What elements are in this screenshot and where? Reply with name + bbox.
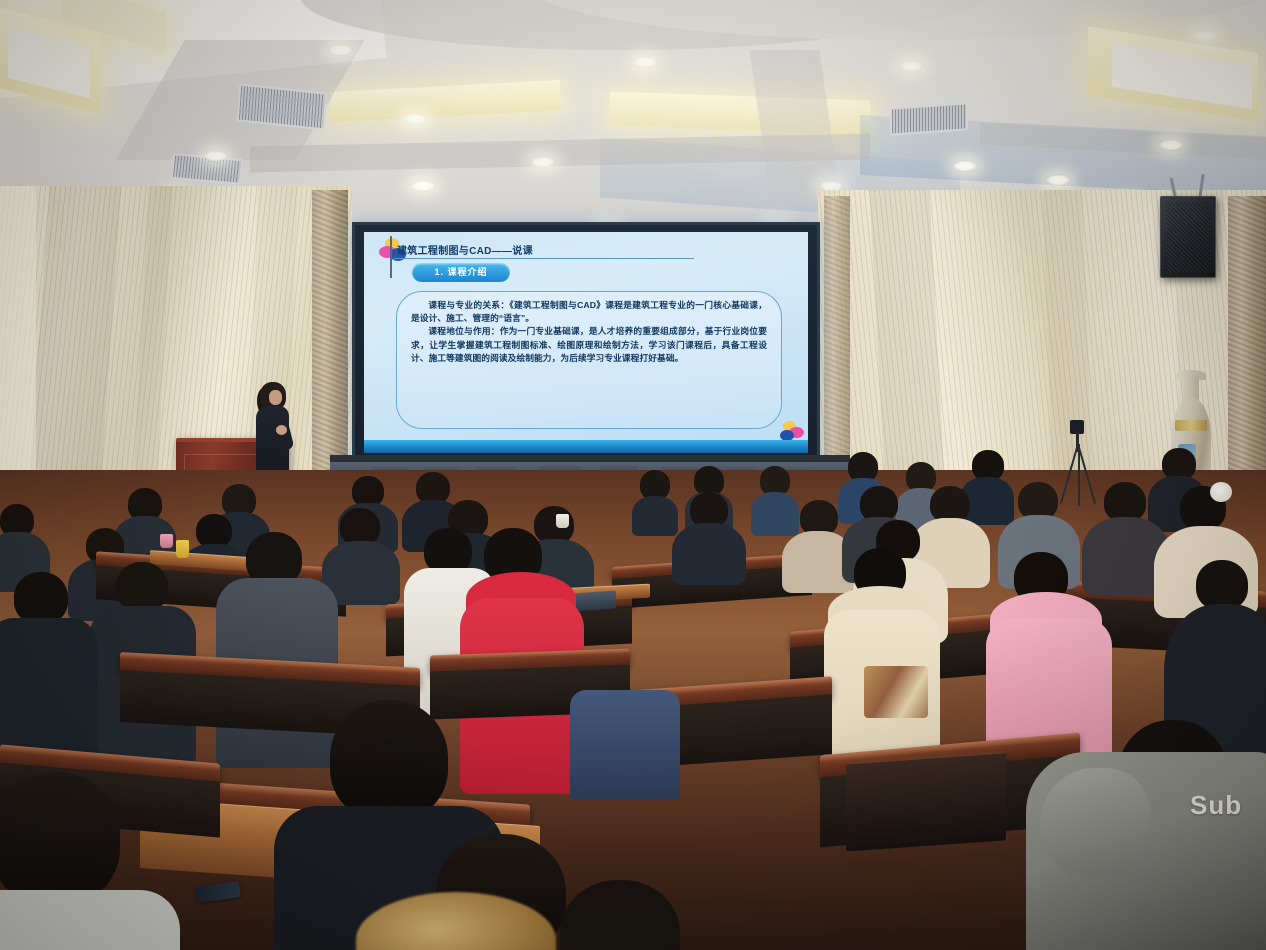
torso	[632, 496, 678, 536]
marble-pillar-right	[1228, 196, 1266, 496]
head	[1196, 560, 1248, 610]
vase-gold-band	[1175, 420, 1207, 431]
downlight	[1158, 139, 1184, 151]
slide-decoration-stem	[390, 236, 392, 278]
torso	[751, 492, 799, 536]
downlight	[203, 150, 229, 162]
downlight	[632, 56, 658, 68]
slide-callout-box: 课程与专业的关系：《建筑工程制图与CAD》课程是建筑工程专业的一门核心基础课，是…	[396, 291, 782, 429]
paper-cup	[176, 540, 189, 558]
audience-person-jeans	[570, 690, 680, 800]
projection-screen: 建筑工程制图与CAD——说课 1. 课程介绍 课程与专业的关系：《建筑工程制图与…	[352, 222, 820, 470]
downlight	[410, 180, 436, 192]
slide-title: 建筑工程制图与CAD——说课	[397, 242, 533, 257]
pillar-texture	[312, 190, 348, 480]
marble-pillar-left	[312, 190, 348, 480]
downlight	[1192, 30, 1218, 42]
slide-body-text: 课程与专业的关系：《建筑工程制图与CAD》课程是建筑工程专业的一门核心基础课，是…	[411, 299, 767, 365]
head	[116, 562, 168, 612]
head	[330, 700, 448, 820]
jacket-brand-text: Sub	[1190, 790, 1242, 821]
wall-shadow-band	[26, 186, 121, 516]
downlight	[898, 60, 924, 72]
head	[0, 772, 120, 904]
tablet-device	[572, 590, 616, 611]
downlight	[1045, 174, 1071, 186]
downlight	[328, 44, 354, 56]
downlight	[952, 160, 978, 172]
torso	[0, 890, 180, 950]
slide-paragraph-2: 课程地位与作用：作为一门专业基础课，是人才培养的重要组成部分，基于行业岗位要求，…	[411, 325, 767, 365]
downlight	[530, 156, 556, 168]
pillar-texture	[1228, 196, 1266, 496]
slide-section-tag-label: 1. 课程介绍	[412, 263, 510, 282]
head	[1104, 482, 1146, 522]
wall-highlight-band	[0, 186, 36, 516]
marble-pillar-center-right	[824, 196, 850, 466]
cove-light-center-2	[610, 91, 870, 134]
wall-shadow-band	[131, 186, 172, 516]
camera-tripod	[1052, 420, 1104, 506]
speaker-grill	[1166, 202, 1210, 272]
slide-section-tag: 1. 课程介绍	[412, 263, 510, 282]
paper-cup	[160, 534, 173, 548]
head	[14, 572, 68, 624]
cove-light-center	[330, 80, 560, 122]
head	[196, 514, 232, 548]
pillar-texture	[824, 196, 850, 466]
hair-flower-clip-icon	[1210, 482, 1232, 502]
chair-back	[846, 750, 1006, 851]
lecture-hall-photo: 建筑工程制图与CAD——说课 1. 课程介绍 课程与专业的关系：《建筑工程制图与…	[0, 0, 1266, 950]
hvac-vent-3	[890, 102, 968, 135]
torso	[672, 523, 746, 585]
slide-title-underline	[394, 258, 694, 259]
downlight	[402, 113, 428, 125]
slide-paragraph-1: 课程与专业的关系：《建筑工程制图与CAD》课程是建筑工程专业的一门核心基础课，是…	[411, 299, 767, 325]
wall-speaker	[1160, 196, 1216, 278]
tripod-leg	[1078, 444, 1080, 506]
presentation-slide: 建筑工程制图与CAD——说课 1. 课程介绍 课程与专业的关系：《建筑工程制图与…	[364, 232, 808, 453]
paper-cup	[556, 514, 569, 528]
presenter-face	[269, 390, 282, 405]
jacket-print-graphic	[864, 666, 928, 718]
slide-bottom-accent-bar	[364, 440, 808, 453]
presenter-hand	[276, 425, 287, 435]
tripod-leg	[1060, 444, 1079, 504]
grey-jacket-sleeve	[1040, 768, 1150, 878]
